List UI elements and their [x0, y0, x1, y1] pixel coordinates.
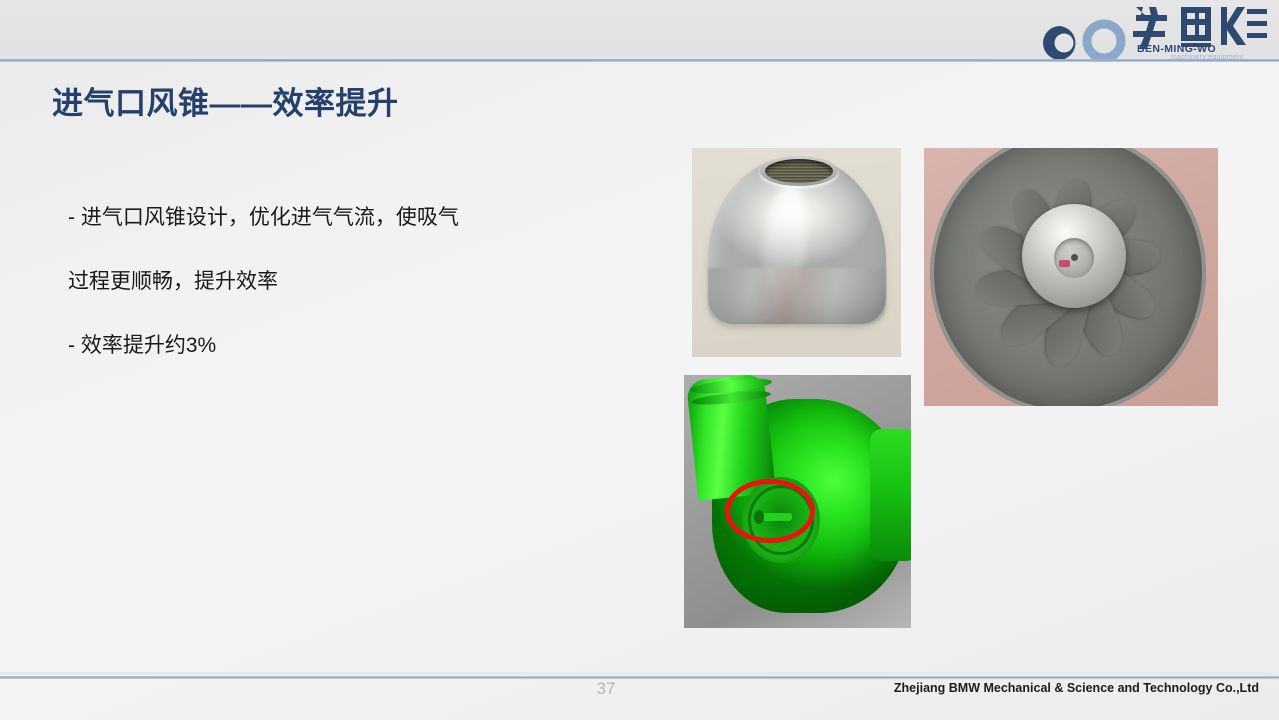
impeller-photo [924, 148, 1218, 406]
cone-threaded-hole [765, 159, 833, 183]
body-line-2: 过程更顺畅，提升效率 [68, 250, 628, 314]
page-title: 进气口风锥——效率提升 [52, 78, 399, 123]
slide: BEN-MING-WO machinery equipment 进气口风锥——效… [0, 0, 1279, 720]
footer-rule-soft [0, 672, 1279, 675]
logo-tagline: machinery equipment [1171, 54, 1244, 59]
footer-company-name: Zhejiang BMW Mechanical & Science and Te… [894, 681, 1259, 695]
company-logo: BEN-MING-WO machinery equipment [1041, 3, 1271, 59]
body-line-3: - 效率提升约3% [68, 314, 628, 378]
body-text: - 进气口风锥设计，优化进气气流，使吸气 过程更顺畅，提升效率 - 效率提升约3… [68, 186, 628, 378]
impeller-outer-rim [930, 148, 1206, 406]
header-rule [0, 59, 1279, 62]
footer-rule [0, 676, 1279, 679]
bo-monogram-icon: BEN-MING-WO machinery equipment [1041, 3, 1271, 59]
inlet-cone-photo [692, 148, 901, 357]
highlight-ellipse-annotation [725, 479, 815, 543]
blower-cad-render [684, 375, 911, 628]
cad-side-shaft [870, 429, 911, 561]
page-number: 37 [586, 679, 626, 699]
body-line-1: - 进气口风锥设计，优化进气气流，使吸气 [68, 186, 628, 250]
